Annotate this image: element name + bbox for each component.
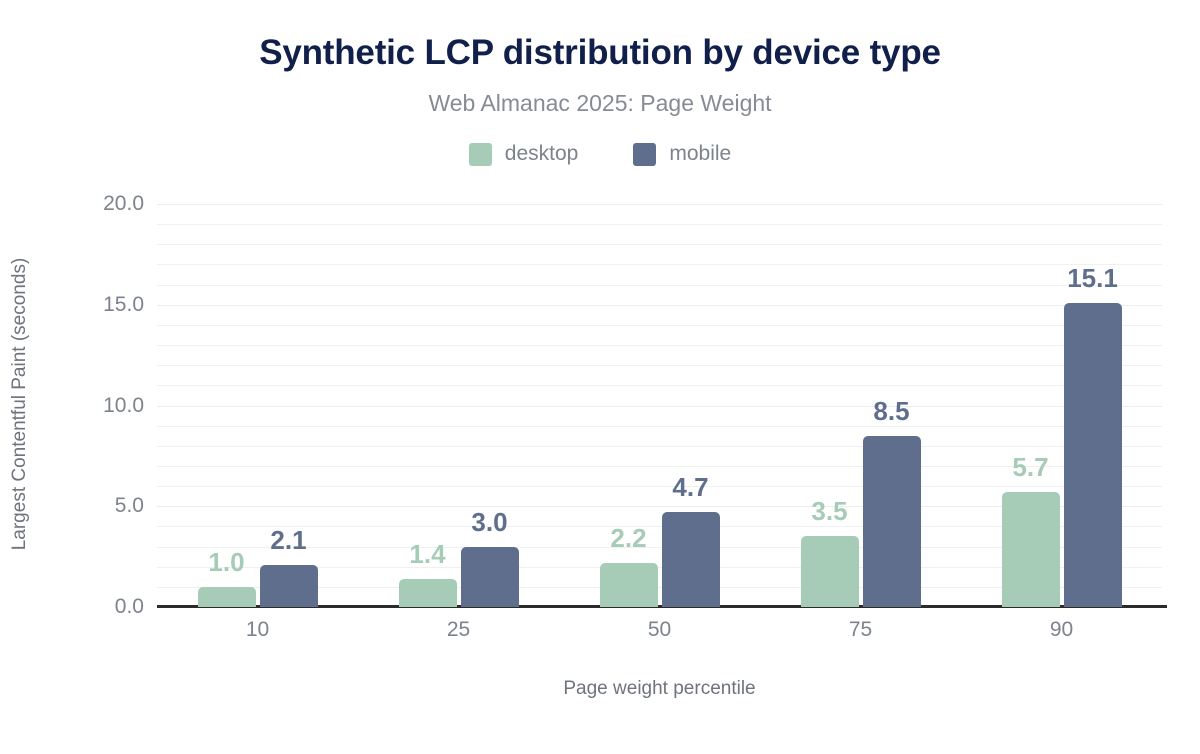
- bar-mobile-75[interactable]: [863, 436, 921, 607]
- bar-value-label-mobile-90: 15.1: [1033, 263, 1153, 294]
- gridline-minor: [157, 426, 1162, 427]
- chart-container: Synthetic LCP distribution by device typ…: [0, 0, 1200, 742]
- gridline-minor: [157, 244, 1162, 245]
- gridline-minor: [157, 385, 1162, 386]
- bar-desktop-25[interactable]: [399, 579, 457, 607]
- x-tick-label: 25: [399, 618, 519, 642]
- x-axis-title: Page weight percentile: [157, 678, 1162, 700]
- y-tick-label: 15.0: [22, 293, 144, 317]
- gridline-minor: [157, 224, 1162, 225]
- chart-title: Synthetic LCP distribution by device typ…: [0, 33, 1200, 73]
- bar-desktop-90[interactable]: [1002, 492, 1060, 607]
- bar-value-label-mobile-75: 8.5: [832, 396, 952, 427]
- gridline-minor: [157, 365, 1162, 366]
- bar-value-label-mobile-50: 4.7: [631, 472, 751, 503]
- gridline-major: [157, 305, 1162, 306]
- gridline-minor: [157, 264, 1162, 265]
- legend-label-desktop: desktop: [505, 142, 579, 166]
- legend-swatch-mobile-icon: [633, 143, 656, 166]
- gridline-major: [157, 204, 1162, 205]
- gridline-minor: [157, 325, 1162, 326]
- gridline-major: [157, 406, 1162, 407]
- bar-value-label-mobile-25: 3.0: [430, 507, 550, 538]
- bar-desktop-50[interactable]: [600, 563, 658, 607]
- chart-subtitle: Web Almanac 2025: Page Weight: [0, 90, 1200, 117]
- gridline-minor: [157, 446, 1162, 447]
- y-tick-label: 5.0: [22, 494, 144, 518]
- legend-item-mobile[interactable]: mobile: [633, 142, 731, 166]
- bar-mobile-25[interactable]: [461, 547, 519, 607]
- bar-desktop-75[interactable]: [801, 536, 859, 607]
- bar-mobile-90[interactable]: [1064, 303, 1122, 607]
- legend-swatch-desktop-icon: [469, 143, 492, 166]
- y-axis-title: Largest Contentful Paint (seconds): [9, 54, 31, 754]
- gridline-minor: [157, 285, 1162, 286]
- x-tick-label: 90: [1002, 618, 1122, 642]
- bar-desktop-10[interactable]: [198, 587, 256, 607]
- bar-mobile-50[interactable]: [662, 512, 720, 607]
- legend-item-desktop[interactable]: desktop: [469, 142, 579, 166]
- x-tick-label: 75: [801, 618, 921, 642]
- legend-label-mobile: mobile: [669, 142, 731, 166]
- y-tick-label: 20.0: [22, 192, 144, 216]
- y-tick-label: 10.0: [22, 394, 144, 418]
- x-tick-label: 50: [600, 618, 720, 642]
- x-tick-label: 10: [198, 618, 318, 642]
- bar-mobile-10[interactable]: [260, 565, 318, 607]
- y-tick-label: 0.0: [22, 595, 144, 619]
- gridline-minor: [157, 345, 1162, 346]
- bar-value-label-mobile-10: 2.1: [229, 525, 349, 556]
- chart-legend: desktop mobile: [0, 142, 1200, 166]
